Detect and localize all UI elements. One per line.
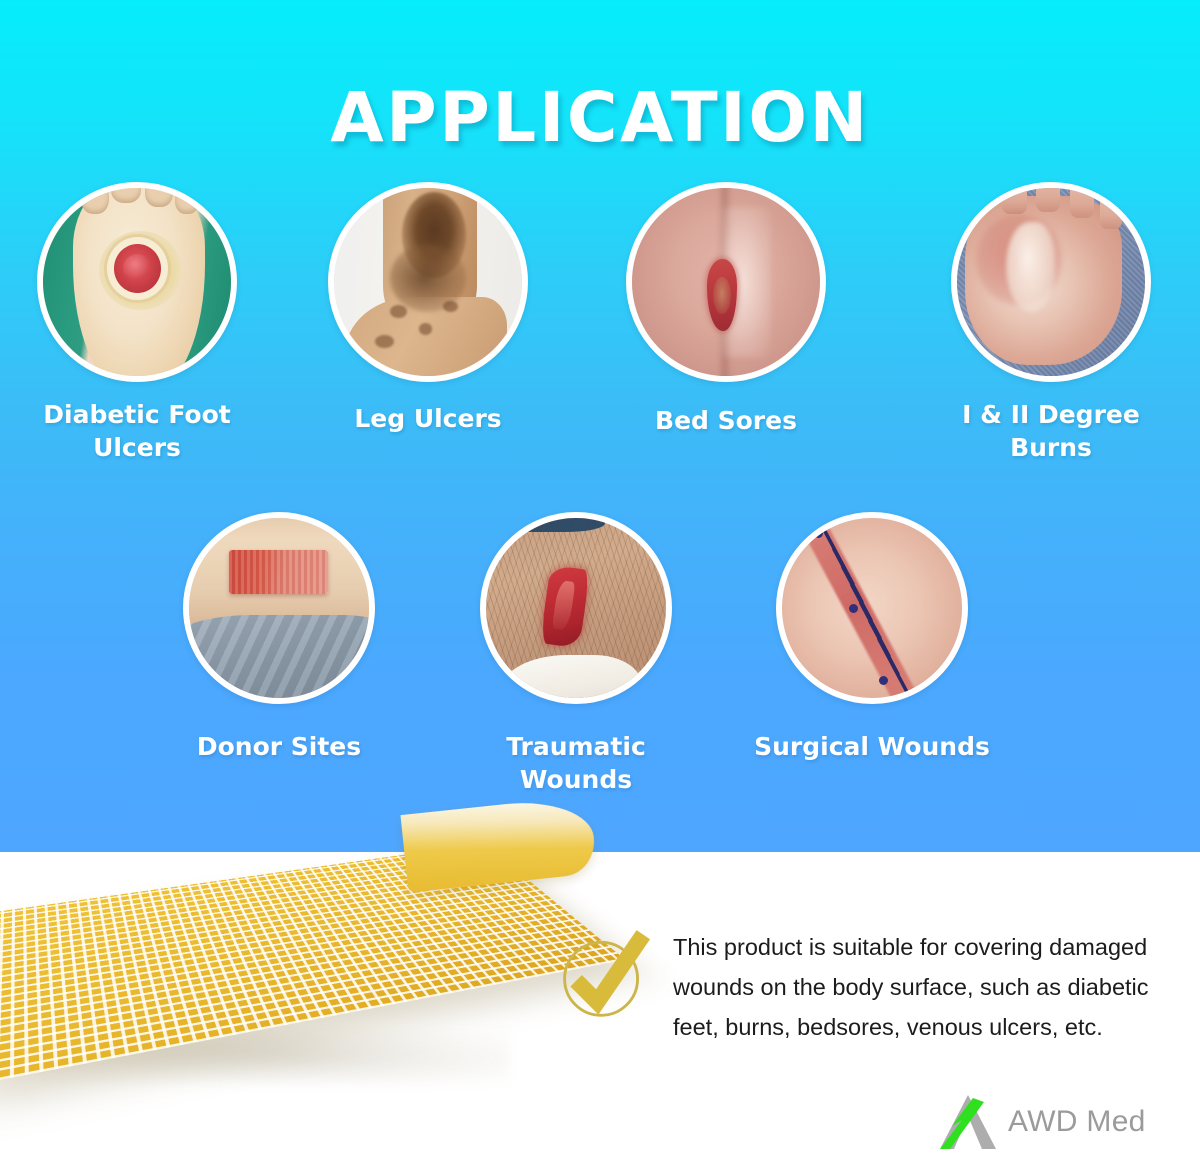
gold-check-circle-icon (555, 927, 651, 1023)
application-label: Leg Ulcers (308, 402, 548, 435)
bed-sore-photo (626, 182, 826, 382)
diabetic-foot-ulcer-photo (37, 182, 237, 382)
application-label: Traumatic Wounds (456, 730, 696, 796)
donor-site-photo (183, 512, 375, 704)
burn-hand-photo (951, 182, 1151, 382)
traumatic-wound-photo (480, 512, 672, 704)
application-hero-panel: APPLICATION Diabetic Foot Ulcers (0, 0, 1200, 852)
brand-logo: AWD Med (938, 1092, 1146, 1152)
application-label: Surgical Wounds (752, 730, 992, 763)
leg-ulcer-photo (328, 182, 528, 382)
application-label: Diabetic Foot Ulcers (17, 398, 257, 464)
page-title: APPLICATION (0, 78, 1200, 158)
application-label: Bed Sores (606, 404, 846, 437)
product-note-text: This product is suitable for covering da… (673, 905, 1170, 1047)
surgical-wound-photo (776, 512, 968, 704)
application-label: Donor Sites (159, 730, 399, 763)
product-note: This product is suitable for covering da… (555, 905, 1170, 1047)
awd-med-logo-icon (938, 1092, 1000, 1152)
brand-name: AWD Med (1008, 1105, 1146, 1139)
application-label: I & II Degree Burns (931, 398, 1171, 464)
